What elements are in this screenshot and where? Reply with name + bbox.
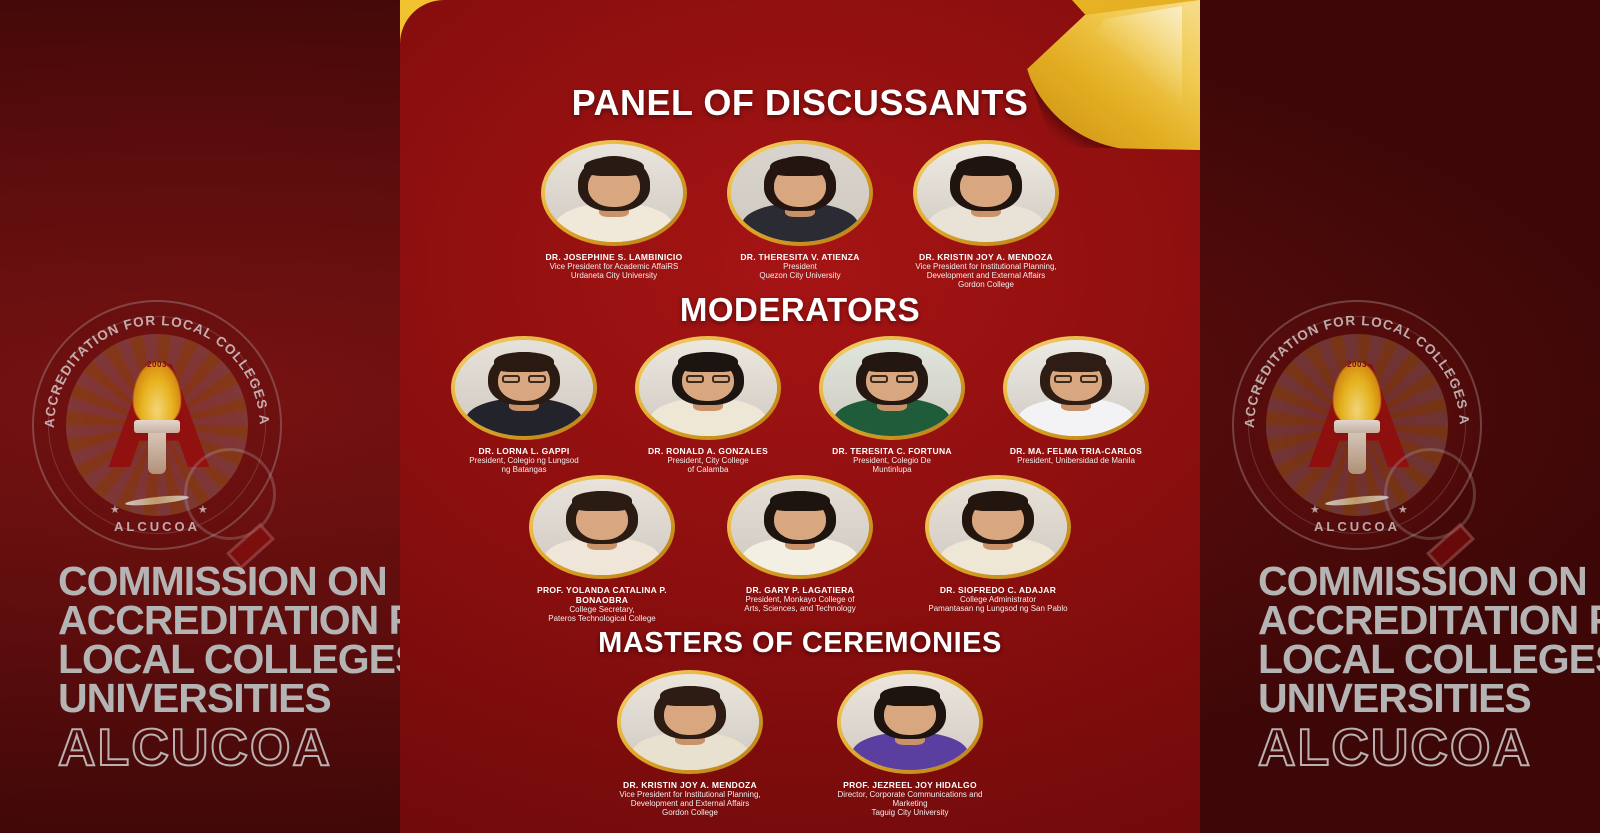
person-name: DR. MA. FELMA TRIA-CARLOS xyxy=(992,446,1160,456)
person-card: DR. LORNA L. GAPPIPresident, Colegio ng … xyxy=(440,336,608,475)
person-name: DR. THERESITA V. ATIENZA xyxy=(716,252,884,262)
watermark-title-right: COMMISSION ON ACCREDITATION FOR LOCAL CO… xyxy=(1258,562,1600,718)
person-affiliation: ng Batangas xyxy=(440,466,608,475)
moderators-row-1: DR. LORNA L. GAPPIPresident, Colegio ng … xyxy=(400,336,1200,475)
person-role: President, Unibersidad de Manila xyxy=(992,457,1160,466)
person-affiliation: Taguig City University xyxy=(820,809,1000,818)
person-affiliation: Urdaneta City University xyxy=(530,272,698,281)
person-card: DR. MA. FELMA TRIA-CARLOSPresident, Unib… xyxy=(992,336,1160,475)
person-name: DR. LORNA L. GAPPI xyxy=(440,446,608,456)
portrait-image xyxy=(455,340,593,436)
panel-of-discussants-row: DR. JOSEPHINE S. LAMBINICIOVice Presiden… xyxy=(400,140,1200,290)
person-card: PROF. YOLANDA CATALINA P. BONAOBRAColleg… xyxy=(513,475,691,624)
svg-text:COMMISSION ON ACCREDITATION FO: COMMISSION ON ACCREDITATION FOR LOCAL CO… xyxy=(1232,300,1472,428)
portrait-image xyxy=(1007,340,1145,436)
background-branding-right: A 2003 COMMISSION ON ACCREDITATION FOR L… xyxy=(1200,0,1600,833)
portrait-photo xyxy=(819,336,965,440)
portrait-image xyxy=(823,340,961,436)
person-affiliation: Arts, Sciences, and Technology xyxy=(711,605,889,614)
person-role: Vice President for Institutional Plannin… xyxy=(600,791,780,809)
background-branding-left: A 2003 COMMISSION ON ACCREDITATION FOR L… xyxy=(0,0,400,833)
moderators-row-2: PROF. YOLANDA CATALINA P. BONAOBRAColleg… xyxy=(400,475,1200,624)
portrait-image xyxy=(533,479,671,575)
person-name: DR. GARY P. LAGATIERA xyxy=(711,585,889,595)
person-card: DR. SIOFREDO C. ADAJARCollege Administra… xyxy=(909,475,1087,624)
person-name: DR. JOSEPHINE S. LAMBINICIO xyxy=(530,252,698,262)
portrait-photo xyxy=(451,336,597,440)
portrait-photo xyxy=(1003,336,1149,440)
person-card: DR. TERESITA C. FORTUNAPresident, Colegi… xyxy=(808,336,976,475)
seal-q-outline-icon-right xyxy=(1384,448,1476,540)
person-card: DR. GARY P. LAGATIERAPresident, Monkayo … xyxy=(711,475,889,624)
portrait-image xyxy=(731,479,869,575)
portrait-photo xyxy=(541,140,687,246)
person-card: DR. KRISTIN JOY A. MENDOZAVice President… xyxy=(600,670,780,818)
poster-screenshot: A 2003 COMMISSION ON ACCREDITATION FOR L… xyxy=(0,0,1600,833)
watermark-acronym-left: ALCUCOA xyxy=(58,718,332,778)
portrait-image xyxy=(731,144,869,242)
person-affiliation: Gordon College xyxy=(600,809,780,818)
person-role: Vice President for Institutional Plannin… xyxy=(902,263,1070,281)
alcucoa-seal-logo: A 2003 COMMISSION ON ACCREDITATION FOR L… xyxy=(32,300,282,550)
person-name: DR. SIOFREDO C. ADAJAR xyxy=(909,585,1087,595)
person-affiliation: Pateros Technological College xyxy=(513,615,691,624)
person-name: DR. KRISTIN JOY A. MENDOZA xyxy=(600,780,780,790)
watermark-title-left: COMMISSION ON ACCREDITATION FOR LOCAL CO… xyxy=(58,562,400,718)
person-card: DR. THERESITA V. ATIENZAPresidentQuezon … xyxy=(716,140,884,290)
portrait-photo xyxy=(529,475,675,579)
section-title-panel-of-discussants: PANEL OF DISCUSSANTS xyxy=(400,82,1200,124)
person-name: DR. RONALD A. GONZALES xyxy=(624,446,792,456)
portrait-photo xyxy=(925,475,1071,579)
portrait-photo xyxy=(913,140,1059,246)
portrait-image xyxy=(929,479,1067,575)
person-affiliation: Pamantasan ng Lungsod ng San Pablo xyxy=(909,605,1087,614)
portrait-photo xyxy=(837,670,983,774)
watermark-acronym-right: ALCUCOA xyxy=(1258,718,1532,778)
portrait-photo xyxy=(727,140,873,246)
person-name: PROF. YOLANDA CATALINA P. BONAOBRA xyxy=(513,585,691,605)
poster-content: PANEL OF DISCUSSANTS DR. JOSEPHINE S. LA… xyxy=(400,0,1200,833)
seal-q-outline-icon xyxy=(184,448,276,540)
person-name: DR. KRISTIN JOY A. MENDOZA xyxy=(902,252,1070,262)
section-title-masters-of-ceremonies: MASTERS OF CEREMONIES xyxy=(400,627,1200,660)
alcucoa-seal-logo-right: A 2003 COMMISSION ON ACCREDITATION FOR L… xyxy=(1232,300,1482,550)
person-affiliation: Quezon City University xyxy=(716,272,884,281)
person-card: DR. JOSEPHINE S. LAMBINICIOVice Presiden… xyxy=(530,140,698,290)
person-name: PROF. JEZREEL JOY HIDALGO xyxy=(820,780,1000,790)
person-affiliation: Muntinlupa xyxy=(808,466,976,475)
person-affiliation: of Calamba xyxy=(624,466,792,475)
svg-text:COMMISSION ON ACCREDITATION FO: COMMISSION ON ACCREDITATION FOR LOCAL CO… xyxy=(32,300,272,428)
section-title-moderators: MODERATORS xyxy=(400,291,1200,329)
poster-card: PANEL OF DISCUSSANTS DR. JOSEPHINE S. LA… xyxy=(400,0,1200,833)
portrait-photo xyxy=(727,475,873,579)
portrait-image xyxy=(841,674,979,770)
person-card: PROF. JEZREEL JOY HIDALGODirector, Corpo… xyxy=(820,670,1000,818)
portrait-image xyxy=(639,340,777,436)
portrait-photo xyxy=(617,670,763,774)
person-name: DR. TERESITA C. FORTUNA xyxy=(808,446,976,456)
person-affiliation: Gordon College xyxy=(902,281,1070,290)
person-card: DR. KRISTIN JOY A. MENDOZAVice President… xyxy=(902,140,1070,290)
person-card: DR. RONALD A. GONZALESPresident, City Co… xyxy=(624,336,792,475)
masters-of-ceremonies-row: DR. KRISTIN JOY A. MENDOZAVice President… xyxy=(400,670,1200,818)
portrait-image xyxy=(545,144,683,242)
portrait-image xyxy=(621,674,759,770)
portrait-photo xyxy=(635,336,781,440)
person-role: Director, Corporate Communications and M… xyxy=(820,791,1000,809)
portrait-image xyxy=(917,144,1055,242)
